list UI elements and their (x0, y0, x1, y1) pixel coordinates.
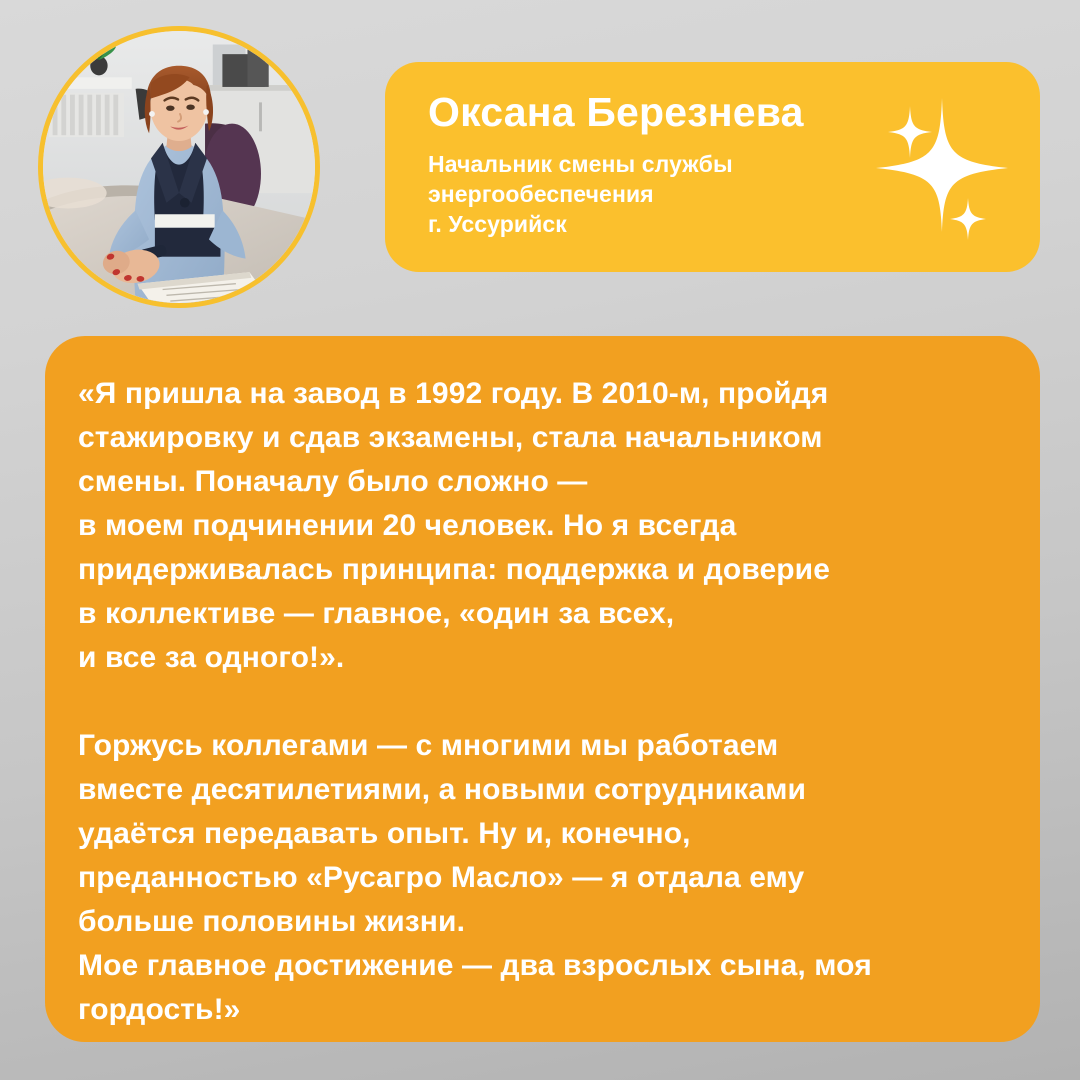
quote-line: вместе десятилетиями, а новыми сотрудник… (78, 768, 1002, 812)
person-header-card: Оксана Березнева Начальник смены службы … (385, 62, 1040, 272)
person-role-line-1: Начальник смены службы (428, 150, 1000, 180)
quote-line: «Я пришла на завод в 1992 году. В 2010-м… (78, 372, 1002, 416)
poster-root: Оксана Березнева Начальник смены службы … (0, 0, 1080, 1080)
quote-line: Мое главное достижение — два взрослых сы… (78, 944, 1002, 988)
avatar (38, 26, 320, 308)
quote-line: преданностью «Русагро Масло» — я отдала … (78, 856, 1002, 900)
quote-line: в моем подчинении 20 человек. Но я всегд… (78, 504, 1002, 548)
quote-line: и все за одного!». (78, 636, 1002, 680)
quote-line: придерживалась принципа: поддержка и дов… (78, 548, 1002, 592)
quote-line: больше половины жизни. (78, 900, 1002, 944)
quote-line: стажировку и сдав экзамены, стала началь… (78, 416, 1002, 460)
person-role: Начальник смены службы энергообеспечения… (428, 150, 1000, 240)
avatar-photo (43, 31, 315, 303)
paragraph-spacer (78, 680, 1002, 724)
quote-line: гордость!» (78, 988, 1002, 1032)
quote-paragraph-2: Горжусь коллегами — с многими мы работае… (78, 724, 1002, 1032)
quote-line: в коллективе — главное, «один за всех, (78, 592, 1002, 636)
quote-line: удаётся передавать опыт. Ну и, конечно, (78, 812, 1002, 856)
quote-paragraph-1: «Я пришла на завод в 1992 году. В 2010-м… (78, 372, 1002, 680)
person-role-line-2: энергообеспечения (428, 180, 1000, 210)
person-name: Оксана Березнева (428, 90, 1000, 134)
quote-line: смены. Поначалу было сложно — (78, 460, 1002, 504)
quote-line: Горжусь коллегами — с многими мы работае… (78, 724, 1002, 768)
person-role-line-3: г. Уссурийск (428, 210, 1000, 240)
quote-card: «Я пришла на завод в 1992 году. В 2010-м… (45, 336, 1040, 1042)
